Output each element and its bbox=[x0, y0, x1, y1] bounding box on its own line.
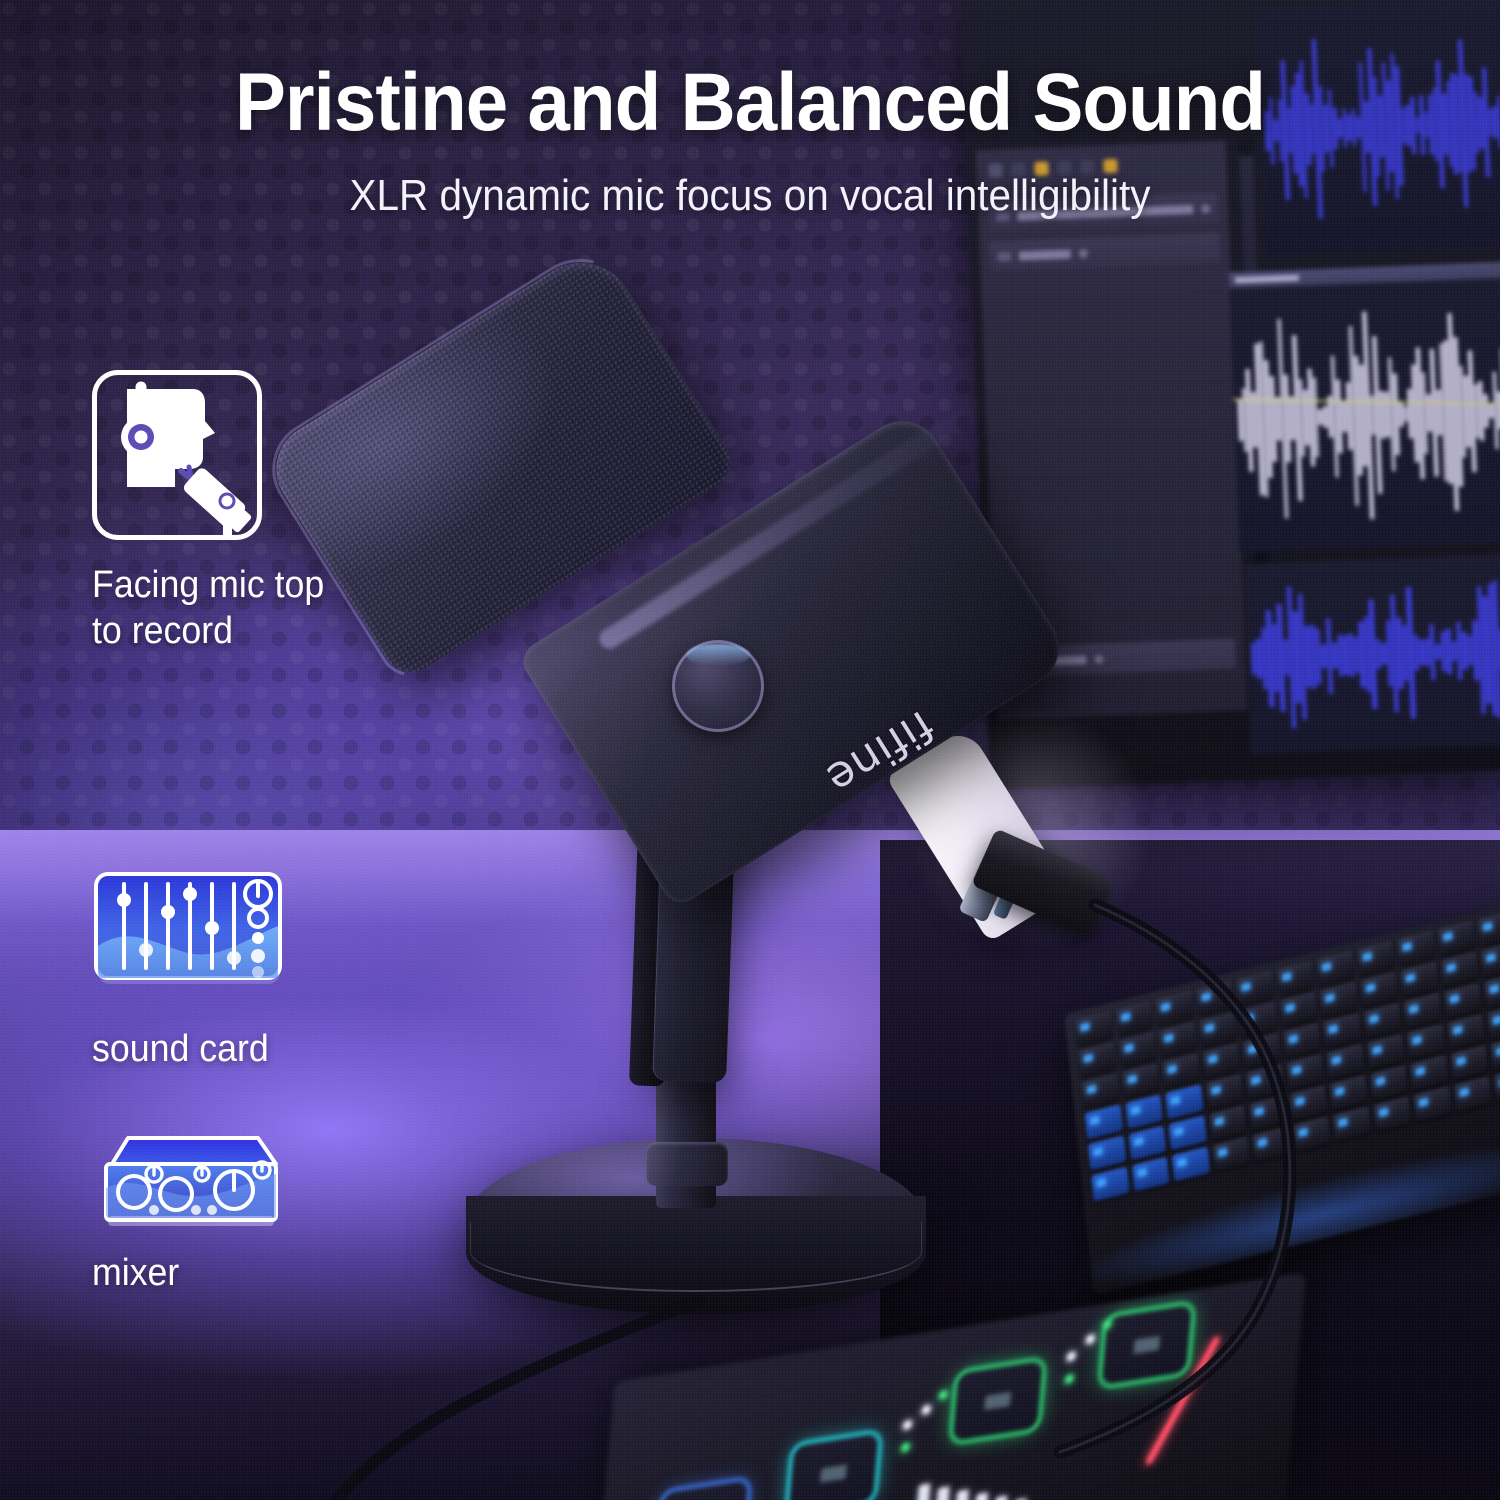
keyboard-key bbox=[1078, 1042, 1116, 1077]
feature-caption-box: sound card bbox=[92, 1026, 288, 1072]
keyboard-key bbox=[1286, 1054, 1324, 1089]
mixer-icon bbox=[92, 1130, 288, 1240]
status-label bbox=[1034, 655, 1086, 666]
daw-waveform-track-2 bbox=[1229, 262, 1500, 553]
feature-caption-line2: to record bbox=[92, 608, 324, 654]
keyboard-key bbox=[1360, 972, 1398, 1007]
keyboard-key bbox=[1438, 921, 1476, 956]
status-icon bbox=[1013, 657, 1026, 666]
mixer-pad-1 bbox=[657, 1480, 748, 1500]
status-dot-icon bbox=[1094, 654, 1103, 663]
mixer-led-4 bbox=[938, 1390, 948, 1401]
mixer-led-3 bbox=[921, 1404, 931, 1415]
daw-waveform-track-3 bbox=[1244, 554, 1500, 755]
head-with-headphones-and-mic-icon bbox=[92, 370, 262, 540]
keyboard-key bbox=[1401, 962, 1439, 997]
keyboard-key bbox=[1320, 982, 1358, 1017]
keyboard-key bbox=[1243, 1033, 1281, 1068]
keyboard-key bbox=[1159, 1022, 1197, 1057]
keyboard-key bbox=[1357, 941, 1395, 976]
keyboard-key bbox=[1075, 1011, 1113, 1046]
keyboard-key bbox=[1363, 1003, 1401, 1038]
keyboard-key bbox=[1199, 1012, 1237, 1047]
keyboard-key bbox=[1085, 1104, 1123, 1139]
keyboard-key bbox=[1397, 931, 1435, 966]
keyboard-key bbox=[1252, 1126, 1290, 1161]
keyboard-key bbox=[1404, 993, 1442, 1028]
mixer-pad-4 bbox=[1101, 1304, 1192, 1385]
mixer-led-5 bbox=[1066, 1351, 1076, 1362]
keyboard-key bbox=[1330, 1075, 1368, 1110]
feature-mixer: mixer bbox=[92, 1130, 288, 1296]
keyboard-key bbox=[1367, 1034, 1405, 1069]
keyboard-key bbox=[1441, 952, 1479, 987]
output-icon bbox=[998, 251, 1011, 260]
keyboard-key bbox=[1491, 1035, 1500, 1070]
keyboard-key bbox=[1283, 1023, 1321, 1058]
keyboard-key bbox=[1131, 1157, 1169, 1192]
keyboard-key bbox=[1444, 983, 1482, 1018]
feature-facing-mic-top: Facing mic top to record bbox=[92, 370, 339, 655]
mixer-led-6 bbox=[1064, 1374, 1074, 1385]
keyboard-key bbox=[1280, 992, 1318, 1027]
keyboard-key bbox=[1484, 973, 1500, 1008]
keyboard-key bbox=[1478, 911, 1500, 946]
feature-caption-line1: Facing mic top bbox=[92, 562, 324, 608]
mixer-led-2 bbox=[901, 1442, 911, 1453]
master-label bbox=[1019, 249, 1071, 260]
master-settings-icon bbox=[1079, 248, 1088, 257]
keyboard-key bbox=[1162, 1053, 1200, 1088]
keyboard-key bbox=[1414, 1086, 1452, 1121]
mixer-led-1 bbox=[903, 1420, 913, 1431]
keyboard-key bbox=[1293, 1116, 1331, 1151]
keyboard-key bbox=[1494, 1066, 1500, 1101]
feature-caption: mixer bbox=[92, 1250, 276, 1296]
mixer-meter-4 bbox=[975, 1493, 988, 1500]
keyboard-key bbox=[1091, 1167, 1129, 1202]
keyboard-key bbox=[1205, 1074, 1243, 1109]
mixer-led-7 bbox=[1085, 1334, 1095, 1345]
keyboard-key bbox=[1246, 1064, 1284, 1099]
keyboard-key bbox=[1370, 1065, 1408, 1100]
mixer-meter-2 bbox=[936, 1487, 949, 1500]
mixer-meter-3 bbox=[955, 1490, 968, 1500]
feature-caption: sound card bbox=[92, 1026, 276, 1072]
feature-sound-card: sound card bbox=[92, 868, 288, 1072]
mixer-pad-3 bbox=[952, 1360, 1043, 1441]
page-title: Pristine and Balanced Sound bbox=[53, 62, 1448, 144]
keyboard-key bbox=[1122, 1063, 1160, 1098]
keyboard-key bbox=[1239, 1002, 1277, 1037]
keyboard-key bbox=[1323, 1013, 1361, 1048]
page-subtitle: XLR dynamic mic focus on vocal intelligi… bbox=[60, 172, 1440, 220]
mixer-pad-2 bbox=[788, 1433, 879, 1500]
daw-status-row bbox=[1005, 639, 1236, 678]
sound-card-icon bbox=[92, 868, 288, 1008]
daw-master-row bbox=[989, 233, 1220, 272]
keyboard-key bbox=[1249, 1095, 1287, 1130]
keyboard-key bbox=[1236, 971, 1274, 1006]
keyboard-key bbox=[1209, 1105, 1247, 1140]
keyboard-key bbox=[1451, 1045, 1489, 1080]
keyboard-key bbox=[1212, 1137, 1250, 1172]
keyboard-key bbox=[1128, 1126, 1166, 1161]
keyboard-key bbox=[1155, 991, 1193, 1026]
keyboard-key bbox=[1115, 1001, 1153, 1036]
daw-mixer-panel bbox=[976, 141, 1248, 720]
feature-caption-box: mixer bbox=[92, 1250, 288, 1296]
feature-caption-box: Facing mic top to record bbox=[92, 562, 339, 655]
keyboard-key bbox=[1165, 1084, 1203, 1119]
keyboard-key bbox=[1276, 961, 1314, 996]
keyboard-key bbox=[1407, 1024, 1445, 1059]
waveform-pale bbox=[1229, 278, 1500, 553]
keyboard-key bbox=[1196, 981, 1234, 1016]
keyboard-key bbox=[1488, 1004, 1500, 1039]
keyboard-key bbox=[1088, 1136, 1126, 1171]
keyboard-key bbox=[1326, 1044, 1364, 1079]
keyboard-key bbox=[1447, 1014, 1485, 1049]
keyboard-key bbox=[1454, 1076, 1492, 1111]
keyboard-key bbox=[1333, 1106, 1371, 1141]
mixer-meter-5 bbox=[994, 1496, 1007, 1500]
keyboard-key bbox=[1289, 1085, 1327, 1120]
keyboard-key bbox=[1202, 1043, 1240, 1078]
keyboard-key bbox=[1172, 1147, 1210, 1182]
keyboard-key bbox=[1410, 1055, 1448, 1090]
mixer-meter-1 bbox=[917, 1484, 930, 1500]
keyboard-key bbox=[1317, 951, 1355, 986]
keyboard-key bbox=[1125, 1094, 1163, 1129]
keyboard-key bbox=[1481, 942, 1500, 977]
keyboard-key bbox=[1168, 1115, 1206, 1150]
waveform-blue-2 bbox=[1244, 554, 1500, 755]
product-banner: fifine Pristine and Balanced Sound XLR d… bbox=[0, 0, 1500, 1500]
keyboard-key bbox=[1118, 1032, 1156, 1067]
keyboard-key bbox=[1081, 1073, 1119, 1108]
keyboard-key bbox=[1373, 1096, 1411, 1131]
